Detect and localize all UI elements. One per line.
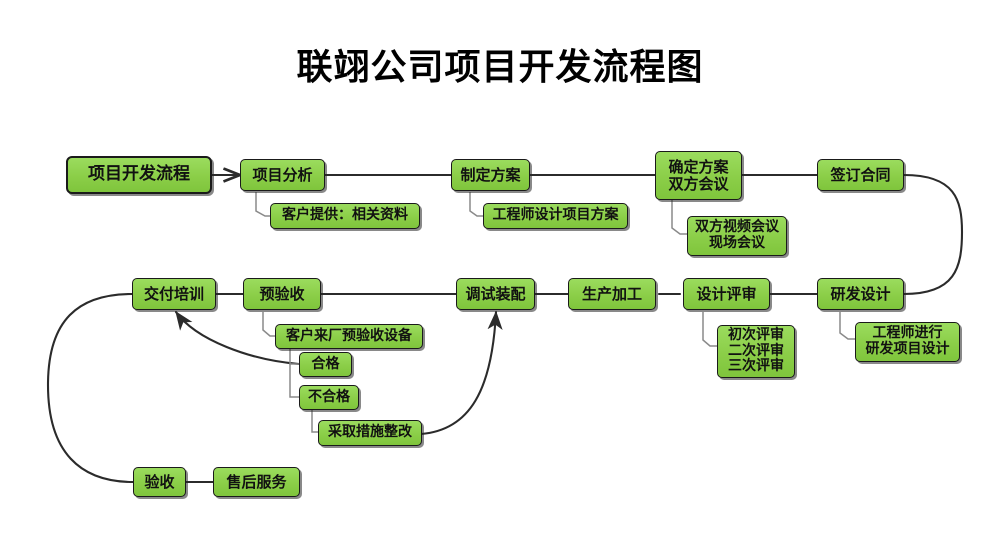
node-review-detail[interactable]: 初次评审 二次评审 三次评审 xyxy=(717,325,795,378)
node-delivery-training[interactable]: 交付培训 xyxy=(132,278,216,310)
node-rectify[interactable]: 采取措施整改 xyxy=(318,420,422,446)
edge-review-sub xyxy=(703,312,718,346)
edge-delivery-to-acceptance xyxy=(48,294,133,482)
node-rd-design[interactable]: 研发设计 xyxy=(817,278,904,310)
page-title: 联翊公司项目开发流程图 xyxy=(0,38,1000,90)
flowchart-canvas: 联翊公司项目开发流程图 xyxy=(0,0,1000,541)
node-rd-detail[interactable]: 工程师进行 研发项目设计 xyxy=(855,322,960,362)
node-pre-acceptance-detail[interactable]: 客户来厂预验收设备 xyxy=(275,324,423,349)
node-fail[interactable]: 不合格 xyxy=(299,385,359,410)
node-plan-detail[interactable]: 工程师设计项目方案 xyxy=(483,203,628,229)
node-acceptance[interactable]: 验收 xyxy=(133,467,186,497)
node-confirm-plan[interactable]: 确定方案 双方会议 xyxy=(655,151,742,200)
node-confirm-detail[interactable]: 双方视频会议 现场会议 xyxy=(687,216,787,256)
edge-confirm-sub xyxy=(672,200,688,234)
edge-plan-sub xyxy=(470,192,484,216)
node-design-review[interactable]: 设计评审 xyxy=(683,278,770,310)
edge-preaccept-to-fail xyxy=(290,364,299,397)
node-pass[interactable]: 合格 xyxy=(299,352,352,377)
node-project-analysis[interactable]: 项目分析 xyxy=(240,159,325,191)
node-start[interactable]: 项目开发流程 xyxy=(66,156,212,194)
edge-analysis-sub xyxy=(256,192,271,216)
node-analysis-detail[interactable]: 客户提供：相关资料 xyxy=(270,203,420,229)
node-after-sales[interactable]: 售后服务 xyxy=(213,467,300,497)
edge-rd-sub xyxy=(840,312,856,339)
edge-contract-to-rd xyxy=(904,175,962,294)
node-production[interactable]: 生产加工 xyxy=(568,278,656,310)
node-assembly[interactable]: 调试装配 xyxy=(456,278,535,310)
node-make-plan[interactable]: 制定方案 xyxy=(451,159,530,191)
edge-rectify-to-assembly xyxy=(421,312,496,434)
node-pre-acceptance[interactable]: 预验收 xyxy=(243,278,321,310)
node-sign-contract[interactable]: 签订合同 xyxy=(817,159,904,191)
